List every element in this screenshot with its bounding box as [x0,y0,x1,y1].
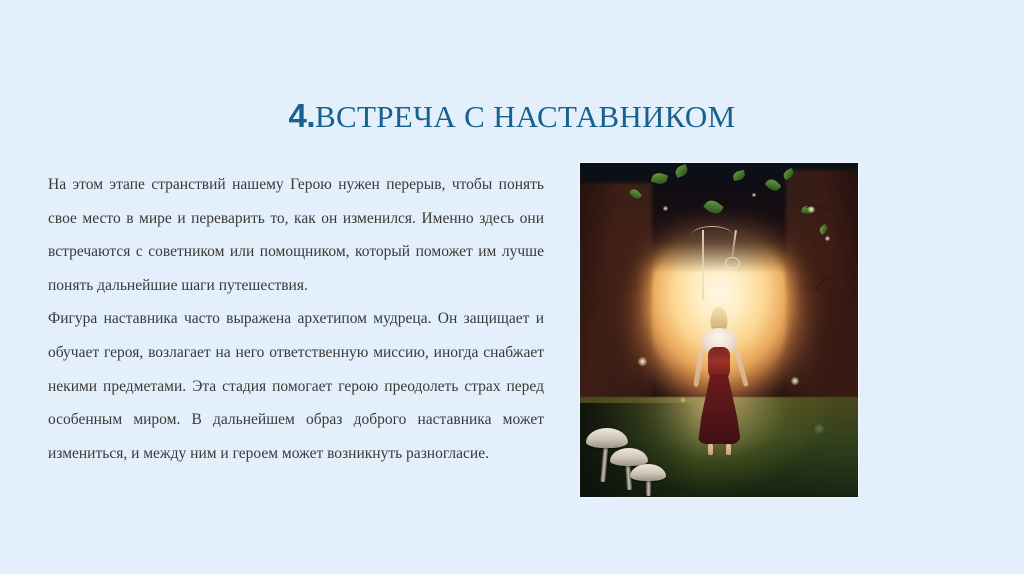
hero-figure [691,307,747,455]
paragraph-2: Фигура наставника часто выражена архетип… [48,302,544,470]
mushroom-group [586,416,676,490]
figure-skirt [695,374,743,444]
paragraph-1: На этом этапе странствий нашему Герою ну… [48,168,544,302]
figure-arm-left [693,351,704,387]
body-text-column: На этом этапе странствий нашему Герою ну… [48,168,544,470]
figure-leg-left [708,444,713,455]
figure-leg-right [726,444,731,455]
figure-arm-right [734,351,749,387]
mushroom-stem [600,442,608,482]
title-number: 4. [288,97,315,134]
illustration-image [580,163,858,497]
mushroom-cap [630,464,666,481]
slide: 4.ВСТРЕЧА С НАСТАВНИКОМ На этом этапе ст… [0,0,1024,574]
title-text: ВСТРЕЧА С НАСТАВНИКОМ [315,99,735,134]
mushroom-cap [586,428,628,448]
page-title: 4.ВСТРЕЧА С НАСТАВНИКОМ [0,97,1024,136]
